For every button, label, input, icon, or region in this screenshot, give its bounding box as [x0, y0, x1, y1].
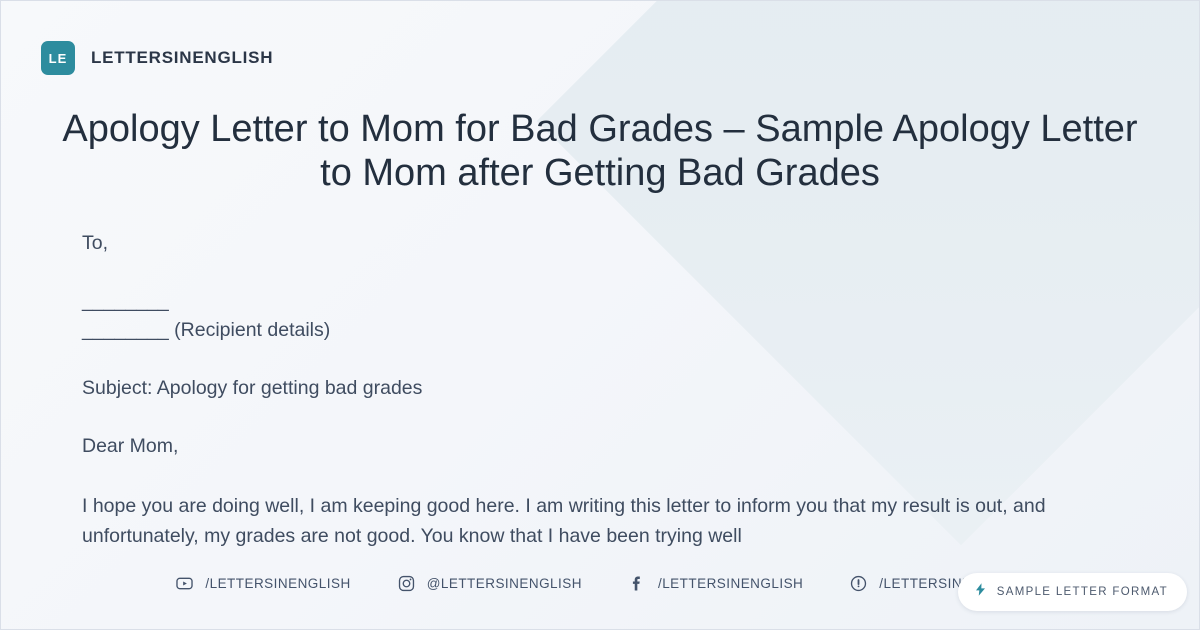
badge-label: SAMPLE LETTER FORMAT [997, 586, 1168, 598]
social-handle: /LETTERSINENGLISH [205, 576, 350, 591]
letter-salutation: Dear Mom, [82, 432, 1099, 462]
letter-card: LE LETTERSINENGLISH Apology Letter to Mo… [0, 0, 1200, 630]
brand-logo: LE [41, 41, 75, 75]
brand-header: LE LETTERSINENGLISH [41, 41, 273, 75]
letter-blank-line-2: ________ (Recipient details) [82, 316, 1099, 346]
brand-name: LETTERSINENGLISH [91, 48, 273, 68]
social-item-youtube[interactable]: /LETTERSINENGLISH [175, 574, 350, 593]
facebook-icon [628, 574, 647, 593]
lightning-bolt-icon [973, 582, 988, 602]
social-item-instagram[interactable]: @LETTERSINENGLISH [397, 574, 582, 593]
page-title: Apology Letter to Mom for Bad Grades – S… [61, 107, 1139, 195]
letter-subject: Subject: Apology for getting bad grades [82, 374, 1099, 404]
letter-paragraph: I hope you are doing well, I am keeping … [82, 491, 1082, 551]
sample-letter-format-badge[interactable]: SAMPLE LETTER FORMAT [958, 573, 1187, 611]
letter-to-line: To, [82, 229, 1099, 259]
social-handle: /LETTERSINENGLISH [658, 576, 803, 591]
social-item-facebook[interactable]: /LETTERSINENGLISH [628, 574, 803, 593]
letter-blank-line-1: ________ [82, 287, 1099, 317]
social-handle: @LETTERSINENGLISH [427, 576, 582, 591]
instagram-icon [397, 574, 416, 593]
youtube-icon [175, 574, 194, 593]
letter-body: To, ________ ________ (Recipient details… [82, 229, 1099, 551]
pinterest-icon [849, 574, 868, 593]
